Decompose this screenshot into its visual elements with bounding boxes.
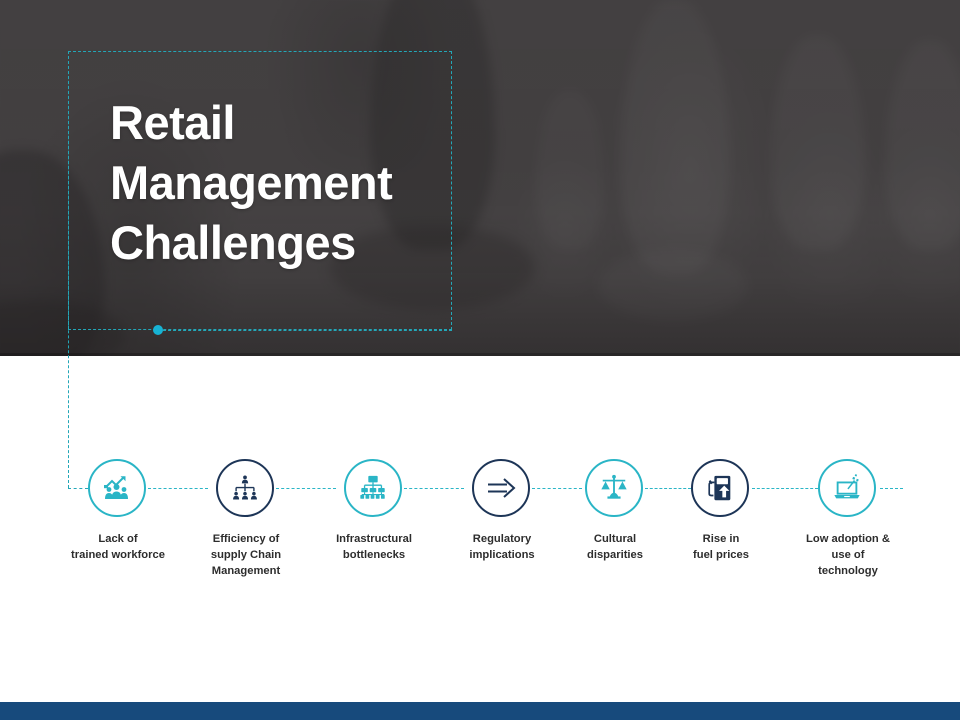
network-tree-icon <box>358 473 388 503</box>
page-title-line-2: Management <box>110 153 470 213</box>
timeline-node-2-circle[interactable] <box>216 459 274 517</box>
balance-scales-icon <box>599 473 629 503</box>
connector-start-dot <box>153 325 163 335</box>
timeline-segment <box>752 488 818 489</box>
timeline-node-5-circle[interactable] <box>585 459 643 517</box>
timeline-node-1-label: Lack of trained workforce <box>44 532 192 564</box>
fuel-pump-up-icon <box>705 473 735 503</box>
timeline: Lack of trained workforce <box>0 356 960 696</box>
laptop-signal-icon <box>832 473 862 503</box>
page-title: Retail Management Challenges <box>110 93 470 273</box>
timeline-node-6-label: Rise in fuel prices <box>647 532 795 564</box>
connector-into-first-node <box>68 488 88 489</box>
timeline-node-2-label: Efficiency of supply Chain Management <box>172 532 320 580</box>
people-growth-icon <box>101 472 133 504</box>
timeline-node-6-circle[interactable] <box>691 459 749 517</box>
timeline-segment <box>532 488 582 489</box>
timeline-node-3-label: Infrastructural bottlenecks <box>300 532 448 564</box>
page-title-line-3: Challenges <box>110 213 470 273</box>
timeline-node-3-circle[interactable] <box>344 459 402 517</box>
timeline-node-1-circle[interactable] <box>88 459 146 517</box>
timeline-segment <box>404 488 464 489</box>
timeline-segment <box>645 488 691 489</box>
timeline-segment <box>276 488 336 489</box>
timeline-node-7-circle[interactable] <box>818 459 876 517</box>
timeline-node-7-label: Low adoption & use of technology <box>774 532 922 580</box>
org-hierarchy-icon <box>230 473 260 503</box>
timeline-segment <box>148 488 208 489</box>
page-title-line-1: Retail <box>110 93 470 153</box>
right-arrow-icon <box>485 472 517 504</box>
timeline-segment <box>880 488 903 489</box>
connector-title-horizontal <box>158 330 452 331</box>
timeline-node-4-circle[interactable] <box>472 459 530 517</box>
footer-bar <box>0 702 960 720</box>
